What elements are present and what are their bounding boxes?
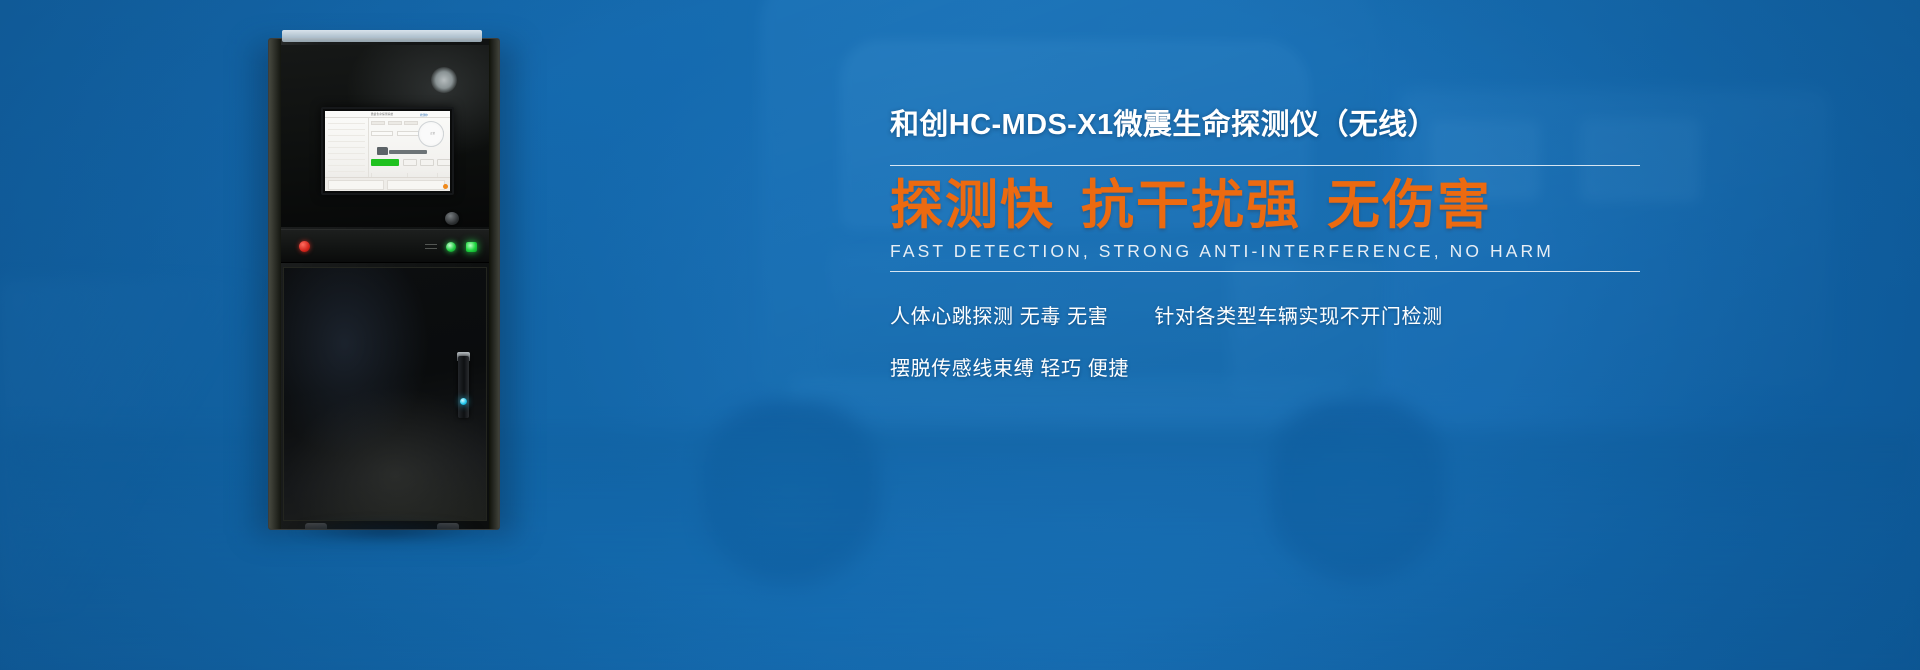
screen-status-bar: [371, 159, 399, 166]
feature-1-left: 人体心跳探测 无毒 无害: [890, 306, 1108, 328]
headline-subtitle-english: FAST DETECTION, STRONG ANTI-INTERFERENCE…: [890, 241, 1660, 262]
screen-truck-bed: [389, 150, 427, 154]
screen-footer-cell: [328, 180, 384, 190]
screen-gauge-label: 正常: [430, 131, 435, 135]
banner-copy-block: 和创HC-MDS-X1微震生命探测仪（无线） 探测快抗干扰强无伤害 FAST D…: [890, 108, 1660, 381]
cabinet-top-lip: [282, 30, 482, 42]
screen-input: [371, 131, 393, 136]
feature-1-right: 针对各类型车辆实现不开门检测: [1154, 306, 1442, 328]
cabinet-left-rail: [269, 39, 281, 529]
product-banner: 微震生命探测系统 检测中: [0, 0, 1920, 670]
screen-truck-cab: [377, 147, 388, 155]
screen-button: [420, 159, 434, 166]
headline-part-2: 抗干扰强: [1081, 176, 1301, 235]
panel-label-lines: [425, 243, 439, 252]
cabinet-floor-shadow: [252, 516, 520, 546]
power-led-indicator: [446, 242, 456, 252]
screen-status-label: 检测中: [420, 113, 428, 117]
screen-footer: [325, 177, 450, 191]
screen-app-title: 微震生命探测系统: [371, 112, 393, 116]
headline-part-1: 探测快: [890, 176, 1055, 235]
screen-truck-diagram: [377, 147, 427, 155]
cabinet-light-glint: [431, 67, 457, 93]
cabinet-lock-knob: [445, 212, 459, 225]
door-led-indicator: [460, 398, 467, 405]
headline-part-3: 无伤害: [1327, 176, 1492, 235]
headline-slogan: 探测快抗干扰强无伤害: [890, 177, 1660, 234]
feature-line-1: 人体心跳探测 无毒 无害针对各类型车辆实现不开门检测: [890, 300, 1660, 329]
divider-top: [890, 165, 1640, 166]
screen-tab: [371, 121, 385, 125]
product-title: 和创HC-MDS-X1微震生命探测仪（无线）: [890, 108, 1660, 143]
feature-line-2: 摆脱传感线束缚 轻巧 便捷: [890, 352, 1660, 381]
cabinet-lower-door[interactable]: [283, 267, 487, 521]
screen-footer-cell: [387, 180, 445, 190]
monitor-screen: 微震生命探测系统 检测中: [325, 111, 450, 191]
screen-left-column: [325, 118, 369, 177]
door-handle[interactable]: [458, 356, 469, 418]
feature-2-left: 摆脱传感线束缚 轻巧 便捷: [890, 358, 1129, 380]
divider-bottom: [890, 271, 1640, 272]
screen-tab: [388, 121, 402, 125]
screen-row: [328, 166, 365, 172]
cabinet-right-rail: [489, 39, 499, 529]
screen-input: [397, 131, 419, 136]
cabinet-body: 微震生命探测系统 检测中: [268, 38, 500, 530]
cabinet-monitor: 微震生命探测系统 检测中: [321, 107, 454, 195]
screen-accent-dot: [443, 184, 448, 189]
screen-button: [437, 159, 450, 166]
screen-tab: [404, 121, 418, 125]
screen-button: [403, 159, 417, 166]
status-led-indicator: [466, 242, 477, 252]
cabinet-control-panel: [281, 229, 489, 263]
emergency-stop-button[interactable]: [299, 241, 310, 252]
product-image-cabinet: 微震生命探测系统 检测中: [268, 38, 500, 530]
cabinet-upper-bay: 微震生命探测系统 检测中: [281, 45, 489, 227]
